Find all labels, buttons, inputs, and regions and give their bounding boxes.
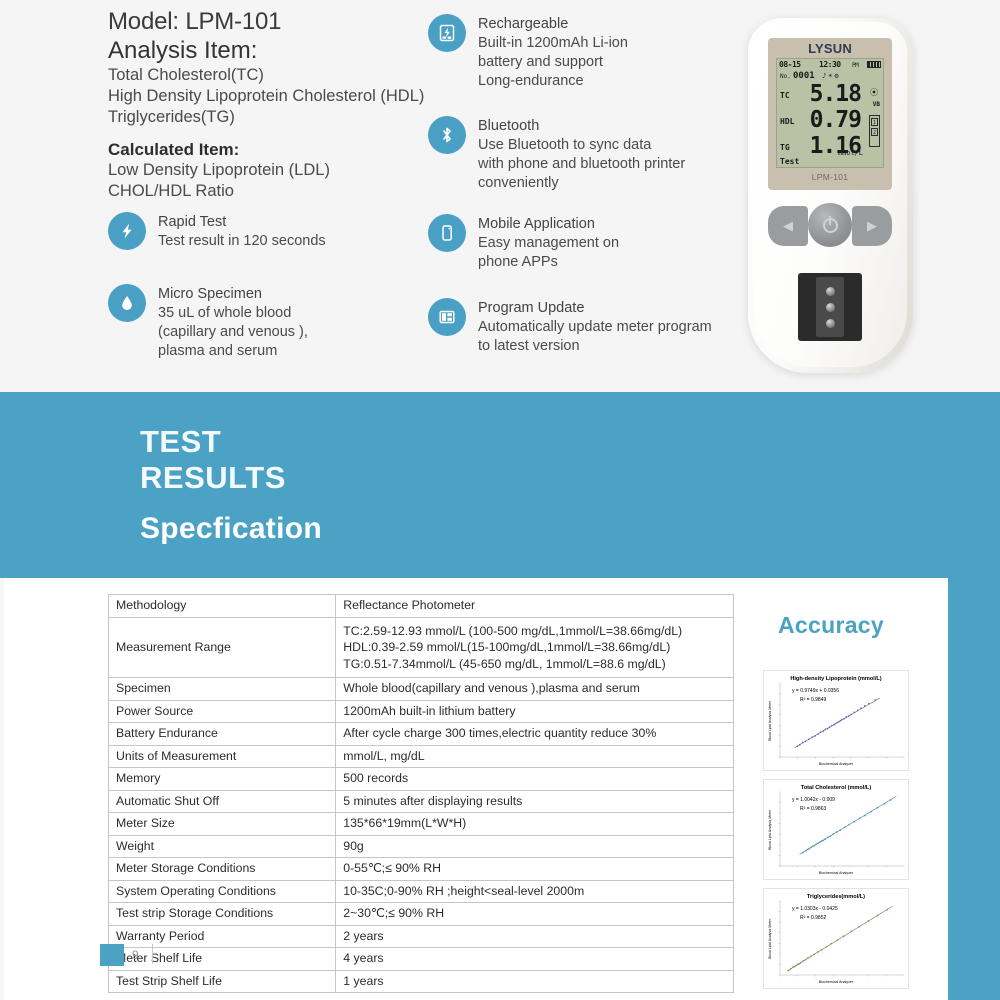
calculated-item-1: CHOL/HDL Ratio (108, 181, 438, 202)
table-row: Meter Shelf Life 4 years (109, 948, 734, 971)
model-line: Model: LPM-101 (108, 8, 438, 36)
feature-micro-specimen: Micro Specimen 35 uL of whole blood (cap… (108, 284, 308, 361)
section-banner: TEST RESULTS Specfication (0, 392, 996, 578)
spec-value: 500 records (336, 768, 734, 791)
program-update-icon (428, 298, 466, 336)
lcd-vb-label: VB (873, 101, 880, 108)
power-icon (823, 218, 838, 233)
power-button[interactable] (808, 203, 852, 247)
battery-charge-icon (428, 14, 466, 52)
right-arrow-button[interactable]: ▶ (852, 206, 892, 246)
spec-value: 0-55℃;≤ 90% RH (336, 858, 734, 881)
spec-key: System Operating Conditions (109, 880, 336, 903)
feature-line: Test result in 120 seconds (158, 232, 326, 251)
chart-triglycerides: Triglycerides(mmol/L) y = 1.0303x - 0.04… (763, 888, 909, 989)
spec-value: 2 years (336, 925, 734, 948)
banner-line-1: TEST (140, 424, 221, 460)
analysis-item-0: Total Cholesterol(TC) (108, 65, 438, 86)
bluetooth-icon (428, 116, 466, 154)
spec-key: Test strip Storage Conditions (109, 903, 336, 926)
device-brand: LYSUN (768, 41, 892, 56)
spec-value: 90g (336, 835, 734, 858)
spec-value: After cycle charge 300 times,electric qu… (336, 723, 734, 746)
device-photo: LYSUN 08-15 12:30 PM No. 0001 ♪☀⚙ (730, 18, 930, 378)
spec-key: Meter Shelf Life (109, 948, 336, 971)
lcd-time: 12:30 (819, 60, 841, 69)
footer-divider (152, 944, 153, 964)
feature-line: phone APPs (478, 253, 619, 272)
lcd-ampm: PM (852, 62, 858, 69)
strip-contact-dot (826, 303, 835, 312)
lcd-label-tc: TC (780, 91, 790, 100)
spec-value: mmol/L, mg/dL (336, 745, 734, 768)
feature-line: plasma and serum (158, 342, 308, 361)
feature-rapid-test: Rapid Test Test result in 120 seconds (108, 212, 326, 251)
table-row: Units of Measurement mmol/L, mg/dL (109, 745, 734, 768)
brochure-page: Model: LPM-101 Analysis Item: Total Chol… (0, 0, 1000, 1000)
spec-key: Meter Size (109, 813, 336, 836)
lcd-status-bar: 08-15 12:30 PM (777, 59, 883, 71)
lcd-record-number: 0001 (793, 71, 815, 81)
device-button-pad: ◀ ▶ (768, 203, 892, 255)
spec-value-line: TC:2.59-12.93 mmol/L (100-500 mg/dL,1mmo… (343, 623, 726, 640)
spec-key: Power Source (109, 700, 336, 723)
feature-title: Rechargeable (478, 15, 628, 34)
lcd-row-hdl: HDL 0.79 (777, 109, 883, 135)
lcd-test-label: Test (780, 157, 799, 166)
spec-key: Units of Measurement (109, 745, 336, 768)
table-row: Methodology Reflectance Photometer (109, 595, 734, 618)
lcd-value-tc: 5.18 (810, 81, 861, 107)
calculated-heading: Calculated Item: (108, 140, 438, 160)
calculated-item-0: Low Density Lipoprotein (LDL) (108, 160, 438, 181)
spec-value: 4 years (336, 948, 734, 971)
table-row: Meter Size 135*66*19mm(L*W*H) (109, 813, 734, 836)
lcd-strip-icon: 12 (869, 115, 880, 147)
feature-line: Use Bluetooth to sync data (478, 136, 685, 155)
spec-value-line: TG:0.51-7.34mmol/L (45-650 mg/dL, 1mmol/… (343, 656, 726, 673)
page-number: 9 (132, 948, 139, 962)
lcd-unit: mmol/L (838, 149, 863, 157)
lcd-bezel: LYSUN 08-15 12:30 PM No. 0001 ♪☀⚙ (768, 38, 892, 190)
spec-value: Whole blood(capillary and venous ),plasm… (336, 678, 734, 701)
table-row: Test Strip Shelf Life 1 years (109, 970, 734, 993)
table-row: Test strip Storage Conditions 2~30℃;≤ 90… (109, 903, 734, 926)
table-row: Measurement Range TC:2.59-12.93 mmol/L (… (109, 617, 734, 678)
spec-value: TC:2.59-12.93 mmol/L (100-500 mg/dL,1mmo… (336, 617, 734, 678)
lcd-value-hdl: 0.79 (810, 107, 861, 133)
model-label: Model: (108, 8, 179, 35)
spec-key: Automatic Shut Off (109, 790, 336, 813)
model-value: LPM-101 (185, 8, 281, 35)
mobile-phone-icon (428, 214, 466, 252)
spec-key: Measurement Range (109, 617, 336, 678)
spec-value: 1200mAh built-in lithium battery (336, 700, 734, 723)
feature-title: Micro Specimen (158, 285, 308, 304)
table-row: Specimen Whole blood(capillary and venou… (109, 678, 734, 701)
chart-plot-area (764, 671, 910, 772)
lcd-label-hdl: HDL (780, 117, 794, 126)
lcd-record-label: No. (780, 73, 791, 80)
lcd-drop-icon: ⦿ (870, 87, 878, 98)
feature-title: Program Update (478, 299, 712, 318)
spec-key: Test Strip Shelf Life (109, 970, 336, 993)
feature-title: Rapid Test (158, 213, 326, 232)
chart-plot-area (764, 780, 910, 881)
spec-key: Warranty Period (109, 925, 336, 948)
blood-drop-icon (108, 284, 146, 322)
lcd-date: 08-15 (779, 60, 801, 69)
feature-rechargeable: Rechargeable Built-in 1200mAh Li-ion bat… (428, 14, 628, 91)
spec-value: 135*66*19mm(L*W*H) (336, 813, 734, 836)
accuracy-title: Accuracy (778, 612, 884, 639)
feature-line: Automatically update meter program (478, 318, 712, 337)
spec-key: Methodology (109, 595, 336, 618)
spec-key: Memory (109, 768, 336, 791)
feature-line: (capillary and venous ), (158, 323, 308, 342)
feature-line: Easy management on (478, 234, 619, 253)
table-row: Automatic Shut Off 5 minutes after displ… (109, 790, 734, 813)
feature-line: conveniently (478, 174, 685, 193)
feature-line: Long-endurance (478, 72, 628, 91)
page-marker (100, 944, 124, 966)
left-arrow-button[interactable]: ◀ (768, 206, 808, 246)
feature-line: battery and support (478, 53, 628, 72)
lcd-screen: 08-15 12:30 PM No. 0001 ♪☀⚙ TC 5.18 (776, 58, 884, 168)
banner-line-3: Specfication (140, 512, 322, 546)
strip-contact-dot (826, 319, 835, 328)
lcd-indicator-icons: ♪☀⚙ (822, 72, 841, 80)
spec-value: 1 years (336, 970, 734, 993)
analysis-item-2: Triglycerides(TG) (108, 107, 438, 128)
chart-plot-area (764, 889, 910, 990)
feature-line: Built-in 1200mAh Li-ion (478, 34, 628, 53)
specification-table: Methodology Reflectance Photometer Measu… (108, 594, 734, 993)
table-row: Power Source 1200mAh built-in lithium ba… (109, 700, 734, 723)
product-overview-section: Model: LPM-101 Analysis Item: Total Chol… (0, 0, 1000, 392)
spec-key: Meter Storage Conditions (109, 858, 336, 881)
lcd-row-tc: TC 5.18 (777, 83, 883, 109)
chart-hdl: High-density Lipoprotein (mmol/L) y = 0.… (763, 670, 909, 771)
chart-total-cholesterol: Total Cholesterol (mmol/L) y = 1.0042x -… (763, 779, 909, 880)
feature-program-update: Program Update Automatically update mete… (428, 298, 712, 356)
spec-key: Weight (109, 835, 336, 858)
banner-line-2: RESULTS (140, 460, 286, 496)
analysis-heading: Analysis Item: (108, 37, 438, 65)
spec-value: Reflectance Photometer (336, 595, 734, 618)
strip-contact-dot (826, 287, 835, 296)
analysis-item-1: High Density Lipoprotein Cholesterol (HD… (108, 86, 438, 107)
spec-value: 10-35C;0-90% RH ;height<seal-level 2000m (336, 880, 734, 903)
spec-value: 2~30℃;≤ 90% RH (336, 903, 734, 926)
spec-value-line: HDL:0.39-2.59 mmol/L(15-100mg/dL,1mmol/L… (343, 639, 726, 656)
device-body: LYSUN 08-15 12:30 PM No. 0001 ♪☀⚙ (748, 18, 913, 373)
table-row: Warranty Period 2 years (109, 925, 734, 948)
feature-title: Mobile Application (478, 215, 619, 234)
device-model-tag: LPM-101 (768, 172, 892, 182)
feature-title: Bluetooth (478, 117, 685, 136)
table-row: Battery Endurance After cycle charge 300… (109, 723, 734, 746)
feature-mobile-application: Mobile Application Easy management on ph… (428, 214, 619, 272)
lcd-label-tg: TG (780, 143, 790, 152)
table-row: Memory 500 records (109, 768, 734, 791)
spec-key: Specimen (109, 678, 336, 701)
table-row: System Operating Conditions 10-35C;0-90%… (109, 880, 734, 903)
battery-level-icon (867, 61, 881, 68)
test-strip-slot (798, 273, 862, 341)
table-row: Meter Storage Conditions 0-55℃;≤ 90% RH (109, 858, 734, 881)
feature-line: to latest version (478, 337, 712, 356)
lightning-bolt-icon (108, 212, 146, 250)
spec-value: 5 minutes after displaying results (336, 790, 734, 813)
feature-bluetooth: Bluetooth Use Bluetooth to sync data wit… (428, 116, 685, 193)
feature-line: 35 uL of whole blood (158, 304, 308, 323)
table-row: Weight 90g (109, 835, 734, 858)
spec-key: Battery Endurance (109, 723, 336, 746)
product-info-block: Model: LPM-101 Analysis Item: Total Chol… (108, 8, 438, 202)
feature-line: with phone and bluetooth printer (478, 155, 685, 174)
right-accent-stripe (948, 392, 1000, 1000)
